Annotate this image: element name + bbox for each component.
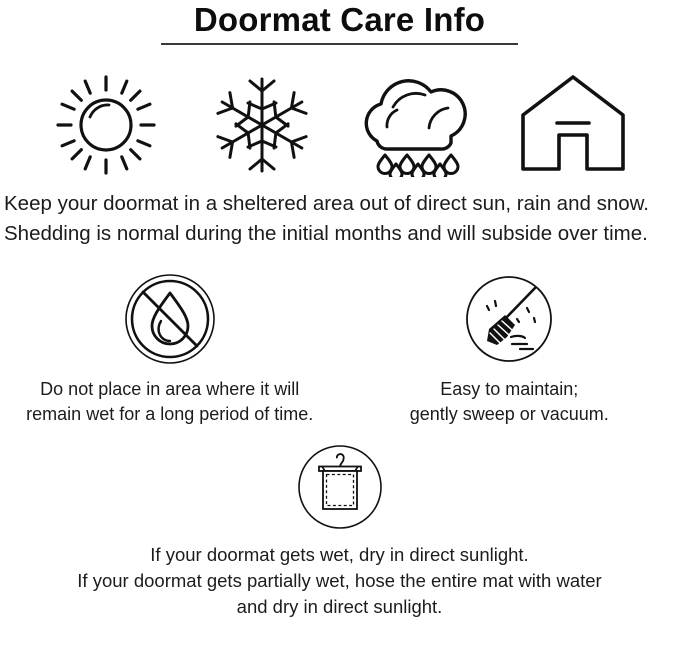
weather-cell-sun xyxy=(36,73,176,177)
intro-line-1: Keep your doormat in a sheltered area ou… xyxy=(4,189,677,219)
weather-cell-rain xyxy=(347,65,487,177)
weather-cell-house xyxy=(503,71,643,177)
snowflake-icon xyxy=(212,73,312,177)
page-title: Doormat Care Info xyxy=(0,1,679,39)
hanging-mat-icon-wrap xyxy=(297,441,383,533)
care-caption-sweep-line-1: Easy to maintain; xyxy=(410,377,609,402)
intro-line-2: Shedding is normal during the initial mo… xyxy=(4,219,677,249)
care-caption-no-water-line-1: Do not place in area where it will xyxy=(26,377,313,402)
title-block: Doormat Care Info xyxy=(0,0,679,45)
hanging-mat-icon xyxy=(297,444,383,530)
care-caption-sweep: Easy to maintain; gently sweep or vacuum… xyxy=(410,377,609,427)
drying-caption-line-2: If your doormat gets partially wet, hose… xyxy=(77,568,601,594)
care-caption-no-water: Do not place in area where it will remai… xyxy=(26,377,313,427)
broom-icon xyxy=(465,275,553,363)
no-water-icon-wrap xyxy=(124,271,216,367)
broom-icon-wrap xyxy=(465,271,553,367)
rain-cloud-icon xyxy=(355,65,479,177)
drying-caption: If your doormat gets wet, dry in direct … xyxy=(77,542,601,620)
weather-icon-row xyxy=(0,45,679,177)
drying-section: If your doormat gets wet, dry in direct … xyxy=(0,441,679,620)
care-caption-sweep-line-2: gently sweep or vacuum. xyxy=(410,402,609,427)
care-columns: Do not place in area where it will remai… xyxy=(0,249,679,427)
drying-caption-line-1: If your doormat gets wet, dry in direct … xyxy=(77,542,601,568)
intro-paragraph: Keep your doormat in a sheltered area ou… xyxy=(0,177,679,249)
care-caption-no-water-line-2: remain wet for a long period of time. xyxy=(26,402,313,427)
sun-icon xyxy=(54,73,158,177)
weather-cell-snowflake xyxy=(192,73,332,177)
house-icon xyxy=(515,71,631,177)
no-water-icon xyxy=(124,273,216,365)
care-item-no-water: Do not place in area where it will remai… xyxy=(0,271,340,427)
drying-caption-line-3: and dry in direct sunlight. xyxy=(77,594,601,620)
care-item-sweep: Easy to maintain; gently sweep or vacuum… xyxy=(340,271,679,427)
